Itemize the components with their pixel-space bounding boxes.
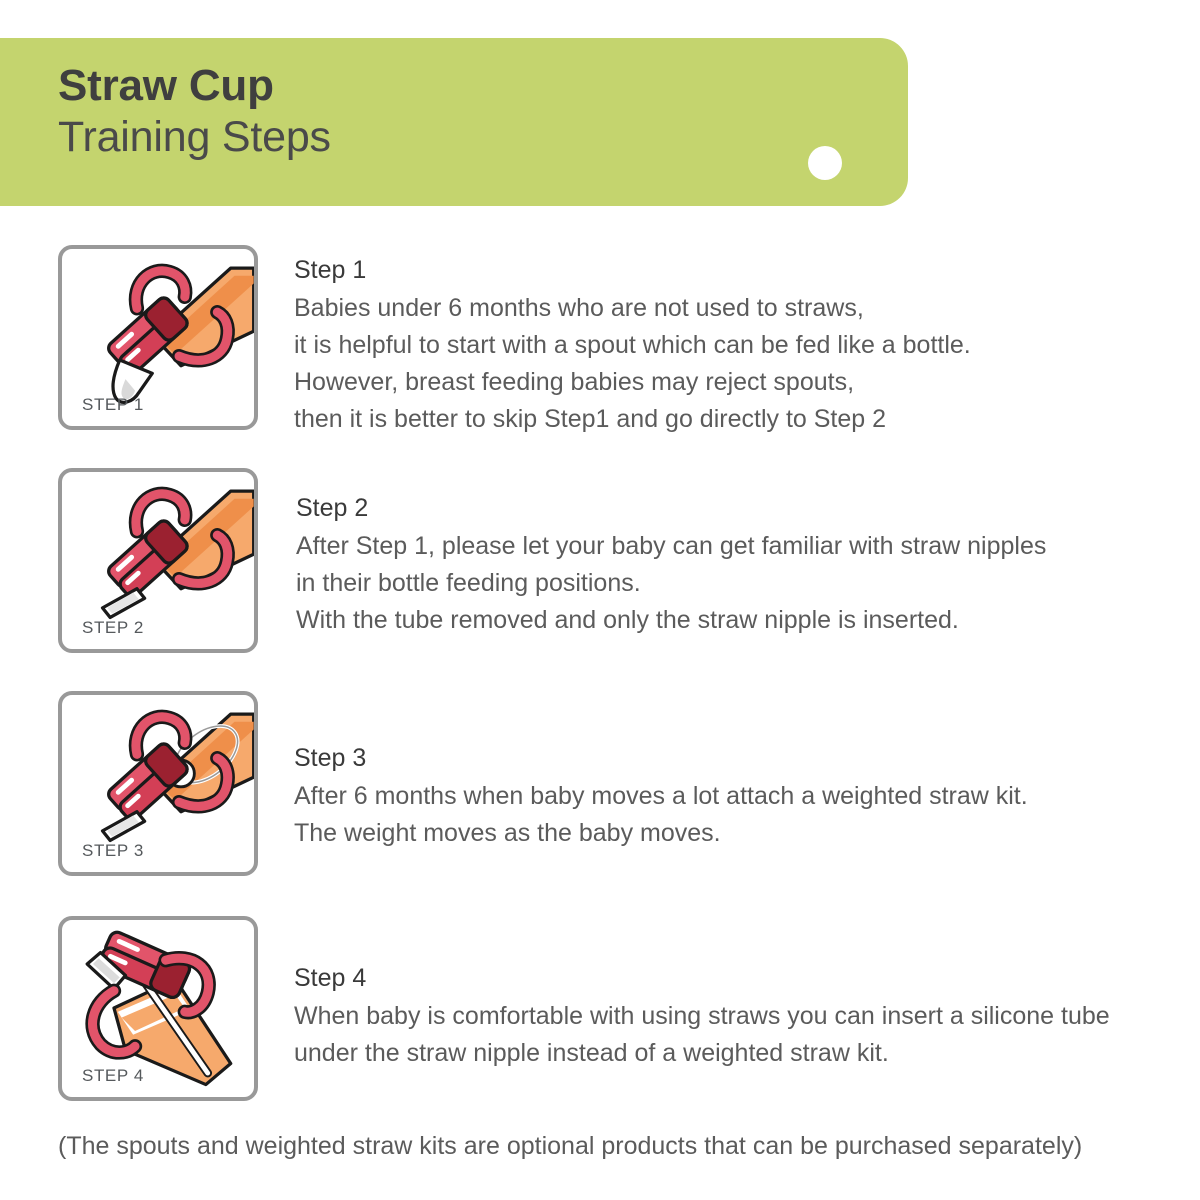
step-2-line-3: With the tube removed and only the straw…	[296, 602, 1046, 639]
step-4-text-block: Step 4 When baby is comfortable with usi…	[294, 960, 1110, 1072]
page-subtitle: Training Steps	[58, 112, 331, 163]
step-4-line-1: When baby is comfortable with using stra…	[294, 998, 1110, 1035]
step-3-text-block: Step 3 After 6 months when baby moves a …	[294, 740, 1028, 852]
header-text-group: Straw Cup Training Steps	[58, 60, 331, 163]
step-2-line-2: in their bottle feeding positions.	[296, 565, 1046, 602]
step-1-text-block: Step 1 Babies under 6 months who are not…	[294, 252, 971, 438]
step-2-thumb-label: STEP 2	[82, 618, 144, 638]
step-1-line-1: Babies under 6 months who are not used t…	[294, 290, 971, 327]
header-tag-banner: Straw Cup Training Steps	[0, 38, 908, 206]
footnote-text: (The spouts and weighted straw kits are …	[58, 1132, 1082, 1161]
step-2-line-1: After Step 1, please let your baby can g…	[296, 528, 1046, 565]
step-3-thumbnail: STEP 3	[58, 691, 258, 876]
step-1-thumb-label: STEP 1	[82, 395, 144, 415]
step-4-thumb-label: STEP 4	[82, 1066, 144, 1086]
step-2-heading: Step 2	[296, 490, 1046, 528]
step-4-thumbnail: STEP 4	[58, 916, 258, 1101]
step-3-heading: Step 3	[294, 740, 1028, 778]
step-1-heading: Step 1	[294, 252, 971, 290]
step-1-thumbnail: STEP 1	[58, 245, 258, 430]
straw-cup-training-poster: Straw Cup Training Steps	[0, 0, 1200, 1200]
step-1-line-4: then it is better to skip Step1 and go d…	[294, 401, 971, 438]
step-1-line-2: it is helpful to start with a spout whic…	[294, 327, 971, 364]
step-2-text-block: Step 2 After Step 1, please let your bab…	[296, 490, 1046, 639]
step-1-line-3: However, breast feeding babies may rejec…	[294, 364, 971, 401]
step-3-thumb-label: STEP 3	[82, 841, 144, 861]
step-4-heading: Step 4	[294, 960, 1110, 998]
step-3-line-2: The weight moves as the baby moves.	[294, 815, 1028, 852]
tag-hole-icon	[808, 146, 842, 180]
page-title: Straw Cup	[58, 60, 331, 112]
step-4-line-2: under the straw nipple instead of a weig…	[294, 1035, 1110, 1072]
step-3-line-1: After 6 months when baby moves a lot att…	[294, 778, 1028, 815]
step-2-thumbnail: STEP 2	[58, 468, 258, 653]
